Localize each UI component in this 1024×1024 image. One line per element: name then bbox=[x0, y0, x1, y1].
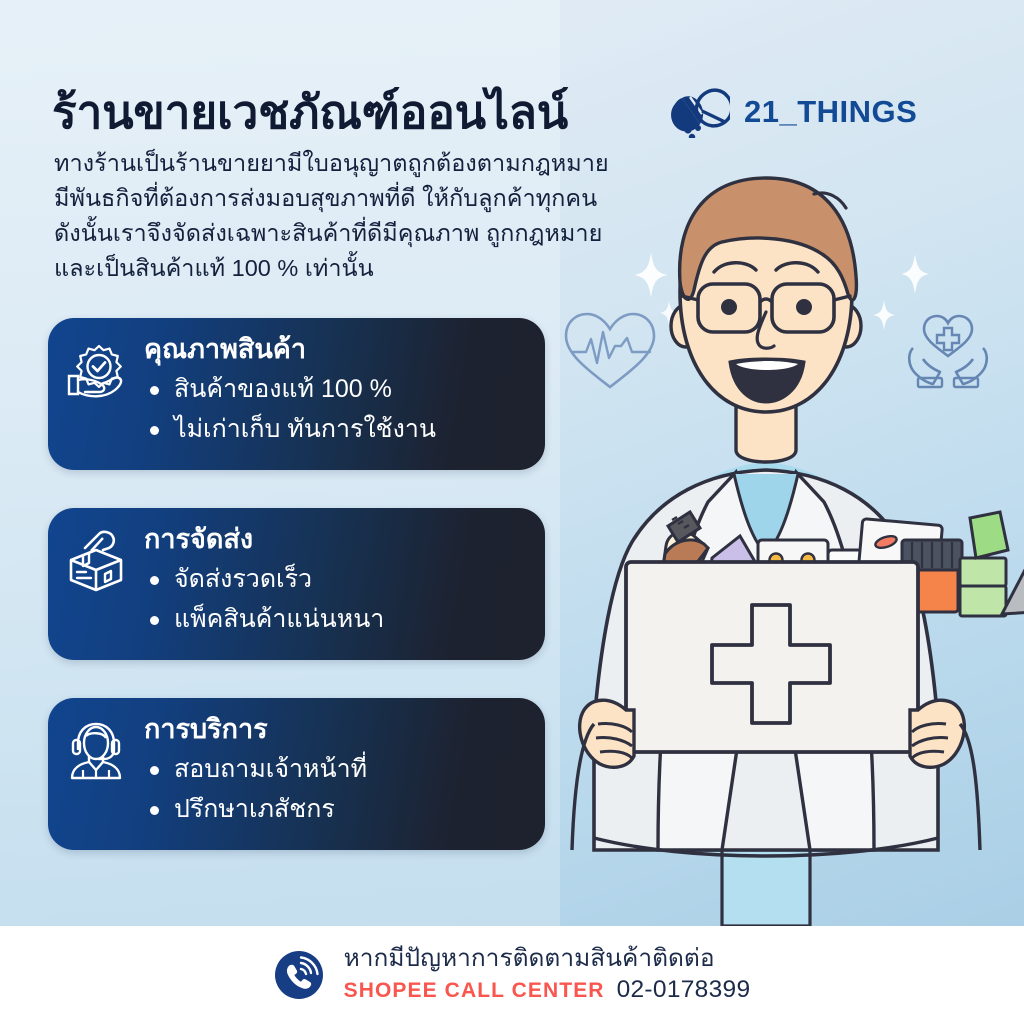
card-bullets: จัดส่งรวดเร็ว แพ็คสินค้าแน่นหนา bbox=[144, 559, 545, 639]
page-title: ร้านขายเวชภัณฑ์ออนไลน์ bbox=[52, 76, 568, 149]
footer-contact-bar: หากมีปัญหาการติดตามสินค้าติดต่อ SHOPEE C… bbox=[0, 926, 1024, 1024]
card-bullets: สินค้าของแท้ 100 % ไม่เก่าเก็บ ทันการใช้… bbox=[144, 369, 545, 449]
intro-paragraph: ทางร้านเป็นร้านขายยามีใบอนุญาตถูกต้องตาม… bbox=[54, 146, 694, 286]
feature-card-quality[interactable]: คุณภาพสินค้า สินค้าของแท้ 100 % ไม่เก่าเ… bbox=[48, 318, 545, 470]
intro-line: ดังนั้นเราจึงจัดส่งเฉพาะสินค้าที่ดีมีคุณ… bbox=[54, 216, 694, 251]
card-content: คุณภาพสินค้า สินค้าของแท้ 100 % ไม่เก่าเ… bbox=[144, 318, 545, 449]
hand-quality-badge-icon bbox=[48, 318, 144, 402]
bullet-item: จัดส่งรวดเร็ว bbox=[144, 559, 545, 599]
brand-name: 21_THINGS bbox=[744, 94, 917, 130]
brand-logo: 21_THINGS bbox=[668, 86, 917, 138]
call-center-label: SHOPEE CALL CENTER bbox=[344, 979, 605, 1003]
card-content: การบริการ สอบถามเจ้าหน้าที่ ปรึกษาเภสัชก… bbox=[144, 698, 545, 829]
intro-line: ทางร้านเป็นร้านขายยามีใบอนุญาตถูกต้องตาม… bbox=[54, 146, 694, 181]
intro-line: มีพันธกิจที่ต้องการส่งมอบสุขภาพที่ดี ให้… bbox=[54, 181, 694, 216]
infographic-root: ร้านขายเวชภัณฑ์ออนไลน์ ทางร้านเป็นร้านขา… bbox=[0, 0, 1024, 1024]
card-title: คุณภาพสินค้า bbox=[144, 334, 545, 365]
headset-agent-icon bbox=[48, 698, 144, 782]
phone-ringing-icon[interactable] bbox=[274, 950, 324, 1000]
bullet-item: ปรึกษาเภสัชกร bbox=[144, 789, 545, 829]
footer-help-text: หากมีปัญหาการติดตามสินค้าติดต่อ bbox=[344, 946, 751, 973]
bullet-item: ไม่เก่าเก็บ ทันการใช้งาน bbox=[144, 409, 545, 449]
footer-text-block: หากมีปัญหาการติดตามสินค้าติดต่อ SHOPEE C… bbox=[344, 946, 751, 1004]
call-center-number[interactable]: 02-0178399 bbox=[617, 976, 751, 1004]
pill-capsule-icon bbox=[668, 86, 730, 138]
card-title: การบริการ bbox=[144, 714, 545, 745]
bullet-item: สอบถามเจ้าหน้าที่ bbox=[144, 749, 545, 789]
bullet-item: แพ็คสินค้าแน่นหนา bbox=[144, 599, 545, 639]
package-box-icon bbox=[48, 508, 144, 592]
card-title: การจัดส่ง bbox=[144, 524, 545, 555]
feature-card-service[interactable]: การบริการ สอบถามเจ้าหน้าที่ ปรึกษาเภสัชก… bbox=[48, 698, 545, 850]
bullet-item: สินค้าของแท้ 100 % bbox=[144, 369, 545, 409]
feature-card-shipping[interactable]: การจัดส่ง จัดส่งรวดเร็ว แพ็คสินค้าแน่นหน… bbox=[48, 508, 545, 660]
card-bullets: สอบถามเจ้าหน้าที่ ปรึกษาเภสัชกร bbox=[144, 749, 545, 829]
footer-call-line: SHOPEE CALL CENTER 02-0178399 bbox=[344, 976, 751, 1004]
card-content: การจัดส่ง จัดส่งรวดเร็ว แพ็คสินค้าแน่นหน… bbox=[144, 508, 545, 639]
intro-line: และเป็นสินค้าแท้ 100 % เท่านั้น bbox=[54, 251, 694, 286]
